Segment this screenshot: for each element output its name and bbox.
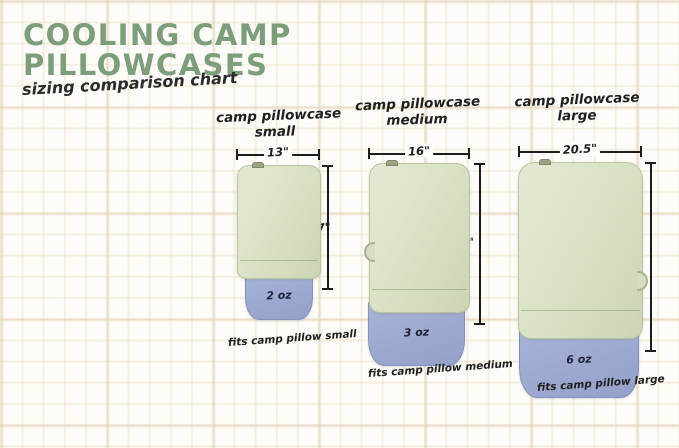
width-value-medium: 16": [405, 143, 434, 158]
fits-caption-small: fits camp pillow small: [228, 328, 357, 349]
product-heading-medium: camp pillowcase medium: [355, 96, 479, 128]
hem-seam: [372, 289, 467, 290]
dimension-cap-top: [322, 165, 333, 167]
dimension-bar: [650, 162, 652, 352]
product-name-line2-small: small: [216, 122, 334, 141]
dimension-cap-right: [468, 148, 470, 159]
weight-label-large: 6 oz: [520, 351, 638, 368]
hang-tab-icon: [539, 159, 551, 165]
dimension-cap-bottom: [645, 350, 656, 352]
dimension-bar: [479, 163, 481, 325]
pillowcase-small: [237, 165, 321, 279]
pillowcase-large: [518, 162, 643, 339]
product-name-line2-medium: medium: [355, 110, 479, 129]
product-heading-large: camp pillowcase large: [512, 92, 642, 124]
hang-tab-icon: [252, 162, 264, 168]
dimension-cap-top: [474, 163, 485, 165]
infographic-canvas: COOLING CAMP PILLOWCASES sizing comparis…: [0, 0, 679, 448]
dimension-cap-right: [640, 146, 642, 157]
side-loop-icon: [364, 242, 375, 262]
width-dimension-large: 20.5": [518, 146, 642, 157]
height-dimension-medium: 22.5": [474, 163, 485, 325]
title-line-1: COOLING CAMP: [23, 20, 323, 50]
pillowcase-medium: [369, 163, 470, 313]
weight-label-medium: 3 oz: [369, 324, 464, 340]
hem-seam: [521, 310, 640, 311]
dimension-cap-left: [368, 148, 370, 159]
dimension-cap-bottom: [474, 323, 485, 325]
dimension-cap-top: [645, 162, 656, 164]
hem-seam: [240, 260, 318, 261]
product-heading-small: camp pillowcase small: [216, 108, 334, 140]
product-name-line2-large: large: [512, 106, 642, 126]
dimension-cap-bottom: [322, 288, 333, 290]
hang-tab-icon: [386, 160, 398, 166]
dimension-cap-left: [236, 149, 238, 160]
width-dimension-medium: 16": [368, 148, 470, 159]
weight-label-small: 2 oz: [246, 288, 312, 303]
width-value-large: 20.5": [559, 141, 600, 157]
height-dimension-small: 17": [322, 165, 333, 290]
dimension-cap-left: [518, 146, 520, 157]
dimension-cap-right: [318, 149, 320, 160]
height-dimension-large: 27": [645, 162, 656, 352]
width-dimension-small: 13": [236, 149, 320, 160]
width-value-small: 13": [264, 144, 293, 159]
